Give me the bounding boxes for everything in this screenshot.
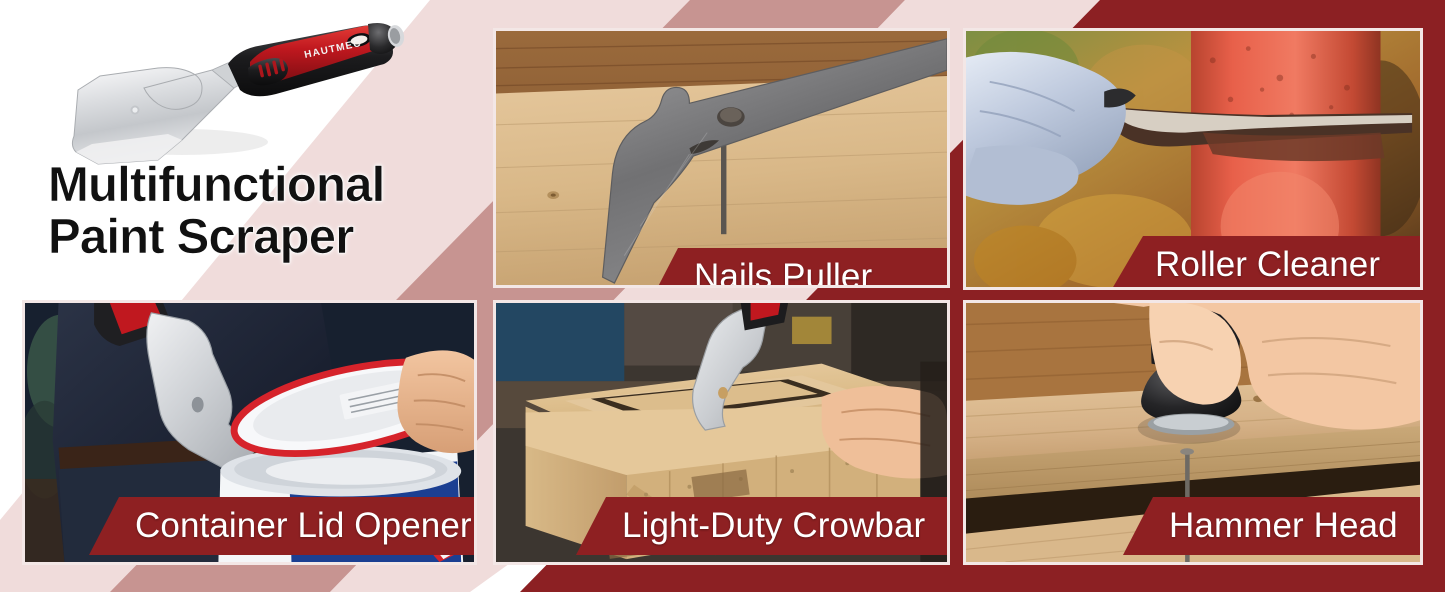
tile-label-container-lid-opener: Container Lid Opener [89,497,477,555]
hero-panel: HAUTMEC Multifunctional Paint Scraper [0,0,493,300]
label-text: Roller Cleaner [1155,245,1380,285]
feature-tile-hammer-head[interactable]: Hammer Head [963,300,1423,565]
page-title: Multifunctional Paint Scraper [48,160,478,264]
tile-label-nails-puller: Nails Puller [648,248,950,288]
label-text: Container Lid Opener [135,506,472,546]
tile-label-hammer-head: Hammer Head [1123,497,1423,555]
product-image-paint-scraper: HAUTMEC [62,18,412,178]
feature-tile-nails-puller[interactable]: Nails Puller [493,28,950,288]
photo-nails-puller [496,31,947,285]
label-text: Nails Puller [694,257,872,288]
product-feature-banner: HAUTMEC Multifunctional Paint Scraper [0,0,1445,592]
feature-tile-roller-cleaner[interactable]: Roller Cleaner [963,28,1423,290]
tile-label-light-duty-crowbar: Light-Duty Crowbar [576,497,950,555]
feature-tile-light-duty-crowbar[interactable]: Light-Duty Crowbar [493,300,950,565]
feature-tile-container-lid-opener[interactable]: Container Lid Opener [22,300,477,565]
title-line-1: Multifunctional [48,160,478,212]
label-text: Hammer Head [1169,506,1398,546]
tile-label-roller-cleaner: Roller Cleaner [1109,236,1423,290]
title-line-2: Paint Scraper [48,212,478,264]
label-text: Light-Duty Crowbar [622,506,925,546]
